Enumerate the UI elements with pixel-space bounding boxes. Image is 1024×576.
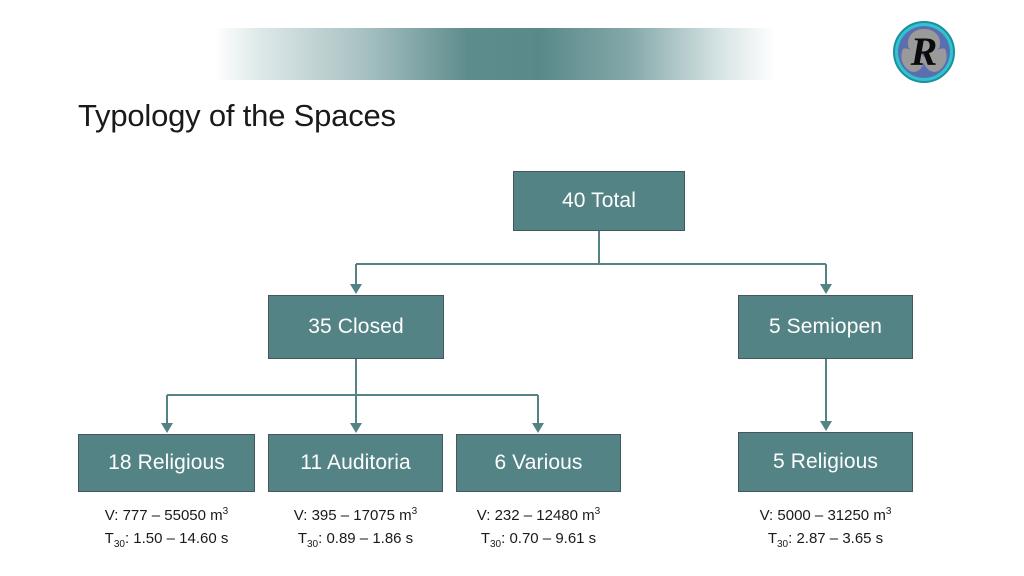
caption-volume: V: 5000 – 31250 m3: [738, 504, 913, 527]
decorative-gradient-band: [215, 28, 775, 80]
volume-exponent: 3: [223, 506, 229, 517]
caption-volume: V: 777 – 55050 m3: [78, 504, 255, 527]
slide-canvas: R Typology of the Spaces: [0, 0, 1024, 576]
caption-volume: V: 395 – 17075 m3: [268, 504, 443, 527]
t30-subscript: 30: [114, 539, 125, 550]
node-various[interactable]: 6 Various: [456, 434, 621, 492]
caption-t30: T30: 0.70 – 9.61 s: [456, 527, 621, 550]
volume-exponent: 3: [595, 506, 601, 517]
logo-letter-r: R: [893, 21, 955, 83]
caption-t30: T30: 0.89 – 1.86 s: [268, 527, 443, 550]
caption-religious-closed: V: 777 – 55050 m3 T30: 1.50 – 14.60 s: [78, 504, 255, 550]
caption-auditoria: V: 395 – 17075 m3 T30: 0.89 – 1.86 s: [268, 504, 443, 550]
caption-t30: T30: 1.50 – 14.60 s: [78, 527, 255, 550]
t30-subscript: 30: [307, 539, 318, 550]
caption-volume: V: 232 – 12480 m3: [456, 504, 621, 527]
node-religious-semiopen[interactable]: 5 Religious: [738, 432, 913, 492]
t30-subscript: 30: [777, 539, 788, 550]
t30-subscript: 30: [490, 539, 501, 550]
node-auditoria[interactable]: 11 Auditoria: [268, 434, 443, 492]
node-religious-closed[interactable]: 18 Religious: [78, 434, 255, 492]
volume-exponent: 3: [886, 506, 892, 517]
node-semiopen[interactable]: 5 Semiopen: [738, 295, 913, 359]
logo-letter-glyph: R: [910, 29, 938, 74]
node-closed[interactable]: 35 Closed: [268, 295, 444, 359]
node-total[interactable]: 40 Total: [513, 171, 685, 231]
volume-exponent: 3: [412, 506, 418, 517]
caption-religious-semiopen: V: 5000 – 31250 m3 T30: 2.87 – 3.65 s: [738, 504, 913, 550]
page-title: Typology of the Spaces: [78, 98, 396, 134]
caption-various: V: 232 – 12480 m3 T30: 0.70 – 9.61 s: [456, 504, 621, 550]
caption-t30: T30: 2.87 – 3.65 s: [738, 527, 913, 550]
